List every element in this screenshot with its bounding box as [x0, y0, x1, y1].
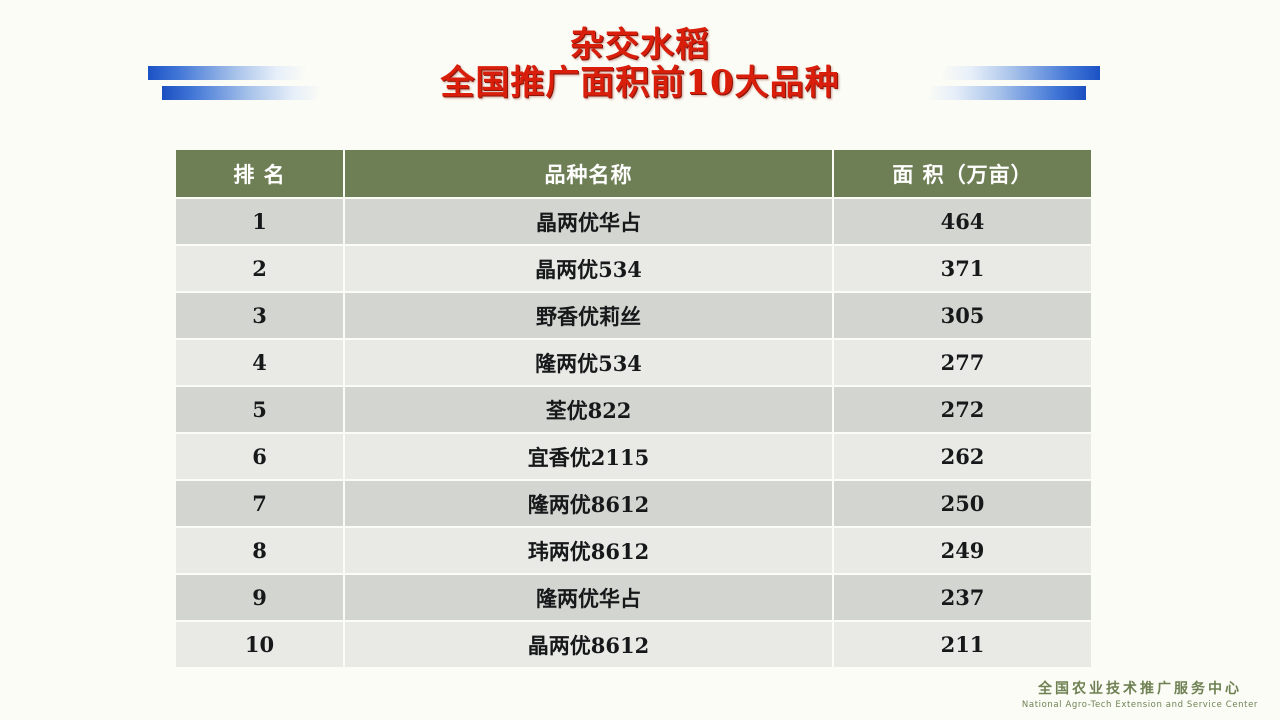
col-header-variety: 品种名称	[345, 150, 832, 197]
cell-variety: 玮两优8612	[345, 528, 832, 573]
table-header-row: 排 名 品种名称 面 积（万亩）	[176, 150, 1091, 197]
col-header-rank: 排 名	[176, 150, 343, 197]
slide-title: 杂交水稻 全国推广面积前10大品种	[0, 26, 1280, 102]
cell-rank: 5	[176, 387, 343, 432]
table-row: 4 隆两优534 277	[176, 340, 1091, 385]
title-line-1: 杂交水稻	[0, 26, 1280, 64]
table-row: 9 隆两优华占 237	[176, 575, 1091, 620]
organization-logo: 全国农业技术推广服务中心 National Agro-Tech Extensio…	[1022, 681, 1258, 710]
cell-variety: 晶两优534	[345, 246, 832, 291]
cell-area: 371	[834, 246, 1091, 291]
title-line-2: 全国推广面积前10大品种	[0, 64, 1280, 102]
slide-root: { "slide": { "background_color": "#fbfcf…	[0, 0, 1280, 720]
table-row: 1 晶两优华占 464	[176, 199, 1091, 244]
table-row: 10 晶两优8612 211	[176, 622, 1091, 667]
table-body: 1 晶两优华占 464 2 晶两优534 371 3 野香优莉丝 305 4 隆…	[176, 199, 1091, 667]
cell-area: 249	[834, 528, 1091, 573]
cell-rank: 8	[176, 528, 343, 573]
org-name-cn: 全国农业技术推广服务中心	[1022, 681, 1258, 699]
cell-area: 272	[834, 387, 1091, 432]
cell-variety: 隆两优华占	[345, 575, 832, 620]
cell-area: 237	[834, 575, 1091, 620]
cell-rank: 9	[176, 575, 343, 620]
col-header-area: 面 积（万亩）	[834, 150, 1091, 197]
rank-table: 排 名 品种名称 面 积（万亩） 1 晶两优华占 464 2 晶两优534 37…	[174, 148, 1093, 669]
cell-variety: 晶两优8612	[345, 622, 832, 667]
table-row: 7 隆两优8612 250	[176, 481, 1091, 526]
cell-rank: 2	[176, 246, 343, 291]
cell-area: 464	[834, 199, 1091, 244]
cell-area: 277	[834, 340, 1091, 385]
cell-area: 262	[834, 434, 1091, 479]
cell-variety: 野香优莉丝	[345, 293, 832, 338]
table-row: 8 玮两优8612 249	[176, 528, 1091, 573]
cell-rank: 1	[176, 199, 343, 244]
rank-table-container: 排 名 品种名称 面 积（万亩） 1 晶两优华占 464 2 晶两优534 37…	[174, 148, 1085, 669]
cell-variety: 隆两优534	[345, 340, 832, 385]
cell-area: 250	[834, 481, 1091, 526]
cell-variety: 隆两优8612	[345, 481, 832, 526]
cell-variety: 荃优822	[345, 387, 832, 432]
cell-rank: 7	[176, 481, 343, 526]
cell-variety: 宜香优2115	[345, 434, 832, 479]
cell-area: 305	[834, 293, 1091, 338]
cell-rank: 10	[176, 622, 343, 667]
cell-variety: 晶两优华占	[345, 199, 832, 244]
table-row: 6 宜香优2115 262	[176, 434, 1091, 479]
table-row: 3 野香优莉丝 305	[176, 293, 1091, 338]
table-head: 排 名 品种名称 面 积（万亩）	[176, 150, 1091, 197]
table-row: 2 晶两优534 371	[176, 246, 1091, 291]
cell-rank: 6	[176, 434, 343, 479]
cell-area: 211	[834, 622, 1091, 667]
table-row: 5 荃优822 272	[176, 387, 1091, 432]
cell-rank: 3	[176, 293, 343, 338]
org-name-en: National Agro-Tech Extension and Service…	[1022, 700, 1258, 710]
cell-rank: 4	[176, 340, 343, 385]
